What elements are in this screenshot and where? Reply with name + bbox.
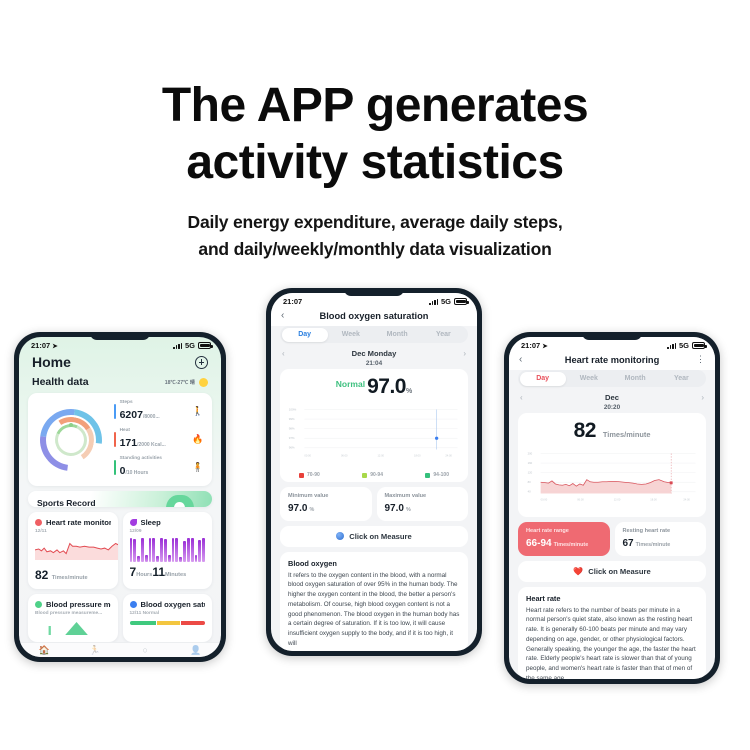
heart-rate-plot: 200160120 8040 00:0006:0012:00 18:0024:0… <box>525 446 699 513</box>
metric-unit: /8000... <box>143 414 160 420</box>
stats-row: Minimum value 97.0% Maximum value 97.0% <box>280 487 468 521</box>
sleep-bar-chart <box>130 538 206 562</box>
info-title: Blood oxygen <box>288 559 460 568</box>
metric-value: 6207/8000... <box>120 409 160 421</box>
signal-icon <box>667 343 676 349</box>
phone-left-screen: 21:07 ➤ 5G Home Health data 18℃-27℃ 晴 <box>19 337 221 657</box>
nav-bar: ‹ Blood oxygen saturation <box>271 308 477 326</box>
stat-resting-heart-rate: Resting heart rate 67Times/minute <box>615 522 707 556</box>
blood-drop-icon <box>336 532 344 540</box>
measure-button[interactable]: Click on Measure <box>280 526 468 547</box>
headline-line-1: The APP generates <box>0 78 750 135</box>
back-button[interactable]: ‹ <box>519 354 533 365</box>
moon-icon <box>130 519 137 526</box>
tab-week[interactable]: Week <box>566 372 612 386</box>
tab-devices[interactable]: ○ Devices <box>120 646 171 657</box>
svg-text:00:00: 00:00 <box>541 497 548 501</box>
svg-text:00:00: 00:00 <box>304 453 311 457</box>
phone-right: 21:07 ➤ 5G ‹ Heart rate monitoring ⋮ Day… <box>504 332 720 684</box>
svg-text:18:00: 18:00 <box>414 453 421 457</box>
tab-week[interactable]: Week <box>328 328 374 342</box>
network-label: 5G <box>679 341 689 350</box>
tile-value: 82 Times/minute <box>35 568 111 582</box>
stat-value: 97.0% <box>385 503 461 514</box>
next-date-button[interactable]: › <box>701 393 704 402</box>
tile-title: Heart rate monitoring <box>46 518 111 527</box>
health-metrics-card[interactable]: Steps 6207/8000... 🚶 Heat 171/2000 Kcal.… <box>28 393 212 486</box>
stat-value: 97.0% <box>288 503 364 514</box>
stat-label: Resting heart rate <box>623 528 699 536</box>
person-icon: 👤 <box>171 646 222 655</box>
add-button[interactable] <box>195 356 208 369</box>
tile-blood-oxygen[interactable]: Blood oxygen saturation 12/11 Normal <box>123 594 213 642</box>
current-reading: Normal97.0% <box>287 374 461 402</box>
heart-rate-sparkline <box>35 538 118 560</box>
heart-rate-screen: 21:07 ➤ 5G ‹ Heart rate monitoring ⋮ Day… <box>509 337 715 679</box>
phone-middle-screen: 21:07 5G ‹ Blood oxygen saturation Day W… <box>271 293 477 651</box>
tile-subtitle: Blood pressure measureme... <box>35 611 111 616</box>
metric-value: 171/2000 Kcal... <box>120 437 166 449</box>
tab-sports[interactable]: 🏃 Sports <box>70 646 121 657</box>
legend-item-low: 70-90 <box>299 472 320 478</box>
location-pin-hole <box>174 502 185 507</box>
heart-icon: ❤️ <box>573 567 583 576</box>
tab-month[interactable]: Month <box>374 328 420 342</box>
svg-text:80: 80 <box>528 480 532 484</box>
location-arrow-icon: ➤ <box>52 342 57 350</box>
heart-icon <box>35 519 42 526</box>
home-title: Home <box>32 354 71 370</box>
svg-text:100%: 100% <box>289 407 297 411</box>
stat-value: 66-94Times/minute <box>526 538 602 549</box>
battery-icon <box>454 298 467 305</box>
info-text: Heart rate refers to the number of beats… <box>526 606 698 679</box>
flame-icon: 🔥 <box>192 434 204 445</box>
current-reading: 82Times/minute <box>525 418 699 446</box>
phone-notch <box>582 332 642 340</box>
svg-text:24:00: 24:00 <box>445 453 452 457</box>
tile-blood-pressure[interactable]: Blood pressure monitoring Blood pressure… <box>28 594 118 642</box>
heart-rate-chart-card: 82Times/minute 200160120 8040 <box>518 413 706 517</box>
legend-item-high: 94-100 <box>425 472 449 478</box>
tile-row-1: Heart rate monitoring 12/11 82 Times/min… <box>28 512 212 589</box>
measure-button[interactable]: ❤️ Click on Measure <box>518 561 706 582</box>
tab-day[interactable]: Day <box>520 372 566 386</box>
blood-oxygen-chart-card: Normal97.0% 100%99%98% 97%96% <box>280 369 468 482</box>
tile-date: 12/11 <box>35 529 111 534</box>
spo2-chart-svg: 100%99%98% 97%96% 00:0006:0012:00 18:002… <box>287 402 461 464</box>
current-date-label: Dec <box>605 393 619 402</box>
metric-bar <box>114 432 116 447</box>
svg-text:160: 160 <box>528 461 533 465</box>
page-subtitle: Daily energy expenditure, average daily … <box>0 209 750 263</box>
headline-block: The APP generates activity statistics Da… <box>0 78 750 264</box>
stat-label: Maximum value <box>385 493 461 501</box>
svg-text:96%: 96% <box>289 446 295 450</box>
stat-maximum: Maximum value 97.0% <box>377 487 469 521</box>
tab-home[interactable]: 🏠 Home <box>19 646 70 657</box>
chart-legend: 70-90 90-94 94-100 <box>287 469 461 478</box>
blood-oxygen-plot: 100%99%98% 97%96% 00:0006:0012:00 18:002… <box>287 402 461 469</box>
reading-unit: Times/minute <box>603 430 651 439</box>
metric-value: 0/10 Hours <box>120 465 149 477</box>
tile-unit: Times/minute <box>52 575 88 581</box>
screen-title: Blood oxygen saturation <box>295 311 453 321</box>
phone-notch <box>344 288 404 296</box>
activity-rings <box>36 407 108 473</box>
bottom-tab-bar: 🏠 Home 🏃 Sports ○ Devices 👤 Mine <box>19 642 221 657</box>
measure-label: Click on Measure <box>588 567 650 576</box>
stat-label: Heart rate range <box>526 528 602 536</box>
prev-date-button[interactable]: ‹ <box>520 393 523 402</box>
svg-text:40: 40 <box>528 490 532 494</box>
date-navigator: ‹ Dec Monday › <box>271 349 477 360</box>
phone-right-screen: 21:07 ➤ 5G ‹ Heart rate monitoring ⋮ Day… <box>509 337 715 679</box>
svg-text:06:00: 06:00 <box>577 497 584 501</box>
info-title: Heart rate <box>526 594 698 603</box>
svg-text:97%: 97% <box>289 436 295 440</box>
tab-month[interactable]: Month <box>612 372 658 386</box>
tile-row-2: Blood pressure monitoring Blood pressure… <box>28 594 212 642</box>
reading-time: 20:20 <box>509 404 715 413</box>
period-segmented-control: Day Week Month Year <box>518 370 706 387</box>
headline-line-2: activity statistics <box>0 135 750 192</box>
blood-oxygen-icon <box>130 601 137 608</box>
svg-text:18:00: 18:00 <box>650 497 657 501</box>
subtitle-line-2: and daily/weekly/monthly data visualizat… <box>0 236 750 263</box>
tab-mine[interactable]: 👤 Mine <box>171 646 222 657</box>
reading-value: 82 <box>574 419 596 442</box>
reading-unit: % <box>406 388 412 395</box>
reading-value: 97.0 <box>367 375 406 398</box>
tile-date: 12/09 <box>130 529 206 534</box>
svg-text:200: 200 <box>528 451 533 455</box>
tile-unit-2: Minutes <box>165 572 186 578</box>
blood-oxygen-screen: 21:07 5G ‹ Blood oxygen saturation Day W… <box>271 293 477 651</box>
status-time: 21:07 <box>521 341 540 350</box>
sports-icon: 🏃 <box>70 646 121 655</box>
battery-icon <box>198 342 211 349</box>
stat-minimum: Minimum value 97.0% <box>280 487 372 521</box>
tab-day[interactable]: Day <box>282 328 328 342</box>
svg-text:120: 120 <box>528 471 533 475</box>
metric-unit: /2000 Kcal... <box>137 442 166 448</box>
legend-item-mid: 90-94 <box>362 472 383 478</box>
tile-subtitle: 12/11 Normal <box>130 611 206 616</box>
home-screen: 21:07 ➤ 5G Home Health data 18℃-27℃ 晴 <box>19 337 221 657</box>
info-card: Heart rate Heart rate refers to the numb… <box>518 587 706 679</box>
stat-label: Minimum value <box>288 493 364 501</box>
battery-icon <box>692 342 705 349</box>
blood-oxygen-scale <box>130 621 206 625</box>
sports-record-card[interactable]: Sports Record Record exercise to improve… <box>28 491 212 507</box>
date-navigator: ‹ Dec › <box>509 393 715 404</box>
svg-text:98%: 98% <box>289 427 295 431</box>
metric-heat: Heat 171/2000 Kcal... 🔥 <box>114 428 204 451</box>
stats-row: Heart rate range 66-94Times/minute Resti… <box>518 522 706 556</box>
metric-label: Standing activities <box>120 456 188 461</box>
health-data-title: Health data <box>32 376 89 388</box>
metric-steps: Steps 6207/8000... 🚶 <box>114 400 204 423</box>
measure-label: Click on Measure <box>349 532 411 541</box>
metric-bar <box>114 460 116 475</box>
status-badge: Normal <box>336 379 365 389</box>
stat-value: 67Times/minute <box>623 538 699 549</box>
home-header: Home <box>19 352 221 374</box>
prev-date-button[interactable]: ‹ <box>282 349 285 358</box>
phone-left: 21:07 ➤ 5G Home Health data 18℃-27℃ 晴 <box>14 332 226 662</box>
subtitle-line-1: Daily energy expenditure, average daily … <box>0 209 750 236</box>
metric-label: Heat <box>120 428 188 433</box>
sun-icon <box>199 378 208 387</box>
home-icon: 🏠 <box>19 646 70 655</box>
svg-text:24:00: 24:00 <box>683 497 690 501</box>
status-time: 21:07 <box>31 341 50 350</box>
signal-icon <box>173 343 182 349</box>
info-card: Blood oxygen It refers to the oxygen con… <box>280 552 468 651</box>
network-label: 5G <box>185 341 195 350</box>
signal-icon <box>429 299 438 305</box>
svg-text:99%: 99% <box>289 417 295 421</box>
blood-pressure-sparkline <box>35 620 111 635</box>
tile-title: Blood oxygen saturation <box>141 600 206 609</box>
tile-unit: Hours <box>136 572 152 578</box>
tile-title: Sleep <box>141 518 161 527</box>
metric-standing: Standing activities 0/10 Hours 🧍 <box>114 456 204 479</box>
reading-time: 21:04 <box>271 360 477 369</box>
location-arrow-icon: ➤ <box>542 342 547 350</box>
info-text: It refers to the oxygen content in the b… <box>288 571 460 649</box>
stat-unit: % <box>406 507 411 513</box>
tile-heart-rate[interactable]: Heart rate monitoring 12/11 82 Times/min… <box>28 512 118 589</box>
tab-year[interactable]: Year <box>420 328 466 342</box>
tile-sleep[interactable]: Sleep 12/09 7Hours11Minutes <box>123 512 213 589</box>
stat-unit: % <box>309 507 314 513</box>
devices-icon: ○ <box>120 646 171 655</box>
weather-widget: 18℃-27℃ 晴 <box>165 378 208 387</box>
metric-label: Steps <box>120 400 188 405</box>
current-date-label: Dec Monday <box>352 349 397 358</box>
tile-value: 7Hours11Minutes <box>130 565 206 579</box>
heart-rate-chart-svg: 200160120 8040 00:0006:0012:00 18:0024:0… <box>525 446 699 508</box>
tab-year[interactable]: Year <box>658 372 704 386</box>
stat-unit: Times/minute <box>554 542 589 548</box>
more-options-button[interactable]: ⋮ <box>691 354 705 365</box>
screen-title: Heart rate monitoring <box>533 355 691 365</box>
stat-heart-rate-range: Heart rate range 66-94Times/minute <box>518 522 610 556</box>
tile-title: Blood pressure monitoring <box>46 600 111 609</box>
svg-text:12:00: 12:00 <box>614 497 621 501</box>
metric-list: Steps 6207/8000... 🚶 Heat 171/2000 Kcal.… <box>108 400 204 479</box>
page-title: The APP generates activity statistics <box>0 78 750 191</box>
status-time: 21:07 <box>283 297 302 306</box>
network-label: 5G <box>441 297 451 306</box>
weather-text: 18℃-27℃ 晴 <box>165 379 195 386</box>
stand-icon: 🧍 <box>192 462 204 473</box>
svg-text:12:00: 12:00 <box>377 453 384 457</box>
stat-unit: Times/minute <box>636 542 671 548</box>
next-date-button[interactable]: › <box>463 349 466 358</box>
nav-bar: ‹ Heart rate monitoring ⋮ <box>509 352 715 370</box>
walk-icon: 🚶 <box>192 406 204 417</box>
blood-pressure-icon <box>35 601 42 608</box>
phone-middle: 21:07 5G ‹ Blood oxygen saturation Day W… <box>266 288 482 656</box>
svg-text:06:00: 06:00 <box>341 453 348 457</box>
ring-marker-icon <box>69 423 73 427</box>
health-data-header: Health data 18℃-27℃ 晴 <box>19 374 221 393</box>
period-segmented-control: Day Week Month Year <box>280 326 468 343</box>
phone-notch <box>90 332 150 340</box>
metric-bar <box>114 404 116 419</box>
back-button[interactable]: ‹ <box>281 310 295 321</box>
metric-unit: /10 Hours <box>125 470 148 476</box>
